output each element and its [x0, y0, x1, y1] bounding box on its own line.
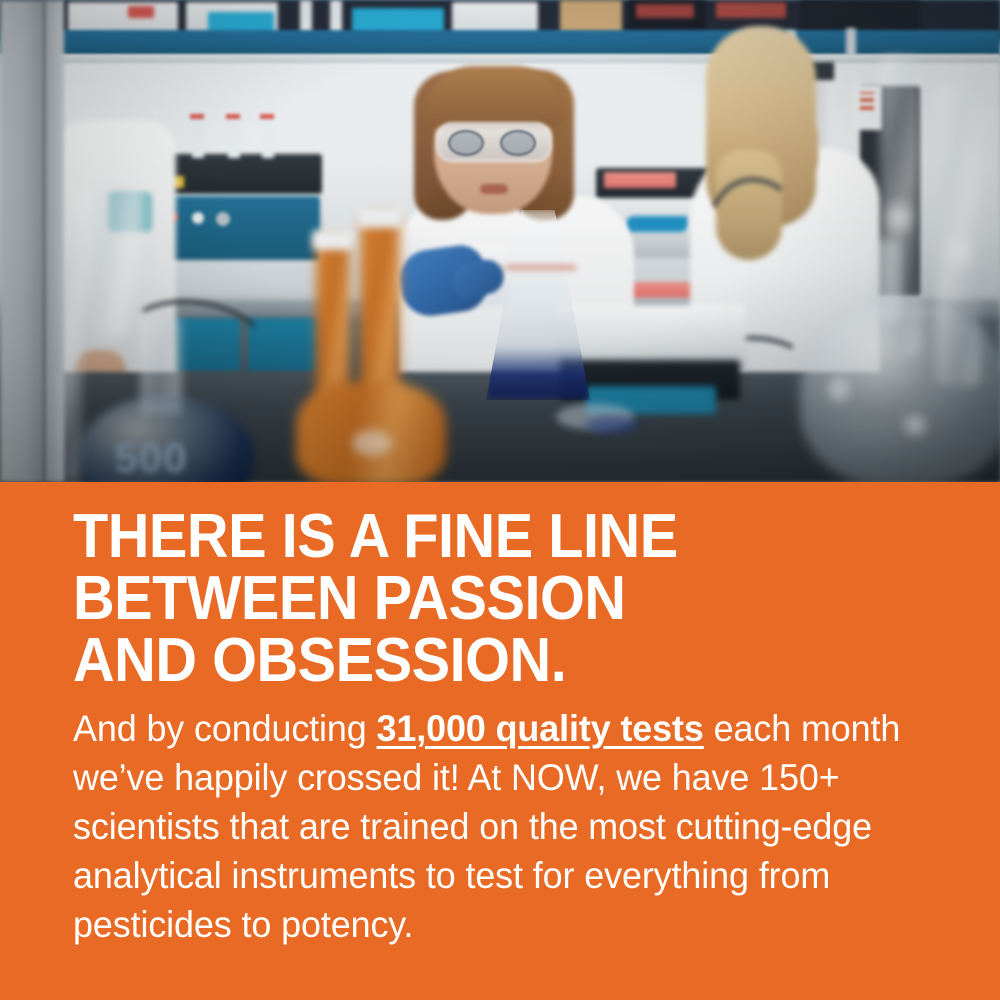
orange-message-panel: THERE IS A FINE LINE BETWEEN PASSION AND… [0, 482, 1000, 1000]
pipette-cap-red-2 [226, 114, 240, 119]
shelf-lip [0, 54, 1000, 63]
shelf-box-red-3 [716, 2, 786, 18]
bokeh-highlight-4 [900, 412, 930, 438]
laboratory-photo: 500 [0, 0, 1000, 482]
eyeglass-lens-left [448, 130, 484, 156]
instrument-knob-2 [216, 212, 230, 226]
bokeh-highlight-3 [826, 372, 852, 406]
erlenmeyer-ring-label [500, 264, 576, 271]
eyeglass-lens-right [500, 130, 536, 156]
stat-highlight: 31,000 quality tests [377, 708, 704, 749]
door-frame-line [42, 0, 46, 482]
pipette-cap-red-1 [190, 114, 204, 119]
body-copy-lead: And by conducting [73, 708, 377, 749]
pipette-tube-3 [228, 114, 240, 158]
volumetric-flask-label: 500 [96, 436, 206, 480]
shelf-box-red-2 [636, 4, 694, 18]
marketing-card: 500 THERE IS A FINE LINE BETWEEN PASSION… [0, 0, 1000, 1000]
amber-bottle-highlight [352, 430, 392, 456]
pipette-cap-red-3 [260, 114, 274, 119]
amber-bottle-cap-1 [312, 230, 354, 250]
bokeh-highlight-2 [942, 232, 976, 272]
bokeh-highlight-1 [884, 196, 914, 240]
pipette-tube-4 [262, 114, 274, 158]
instrument-logo-swoosh [626, 216, 688, 232]
bench-tray-pink-1 [604, 172, 676, 188]
center-scientist-hair-top [424, 66, 564, 128]
shelf-box-red-label [128, 6, 154, 18]
wall-outlet-dots [860, 92, 874, 110]
instrument-knob-1 [192, 212, 204, 224]
pipette-tube-2 [192, 114, 204, 158]
glass-funnel-left [78, 188, 142, 338]
front-blue-disc [586, 416, 638, 434]
headline: THERE IS A FINE LINE BETWEEN PASSION AND… [73, 506, 891, 692]
center-scientist-mouth [480, 184, 508, 194]
door-frame-column [0, 0, 64, 482]
cabinet-handle-2 [846, 28, 856, 56]
amber-bottle-cap-2 [356, 206, 404, 228]
body-copy: And by conducting 31,000 quality tests e… [73, 704, 905, 949]
